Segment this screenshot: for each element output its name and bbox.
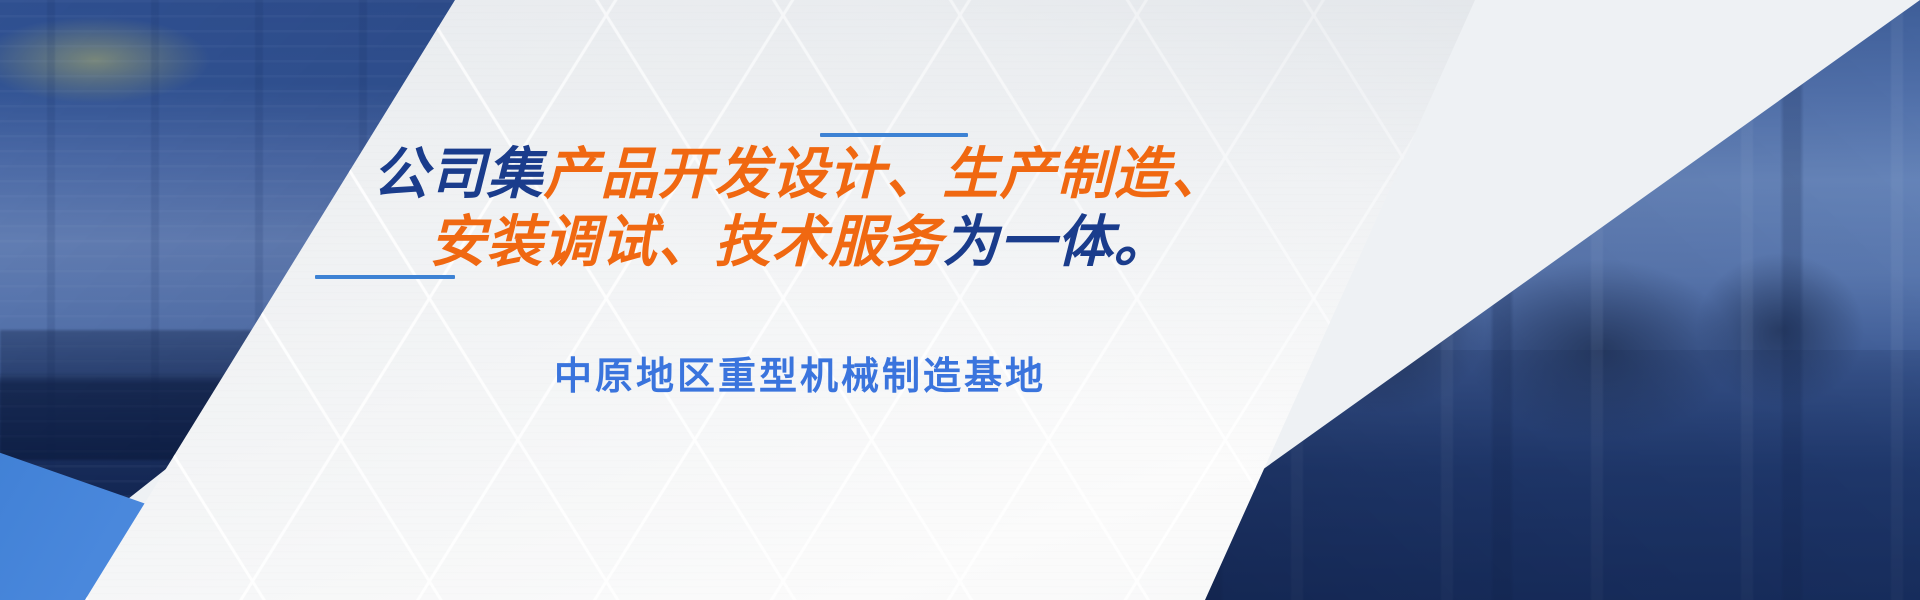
banner-headline: 公司集产品开发设计、生产制造、 安装调试、技术服务为一体。 bbox=[0, 140, 1760, 277]
decorative-rule-bottom bbox=[315, 275, 455, 279]
headline-line-2: 安装调试、技术服务为一体。 bbox=[0, 208, 1760, 276]
headline-line2-segment-orange: 安装调试、技术服务 bbox=[430, 210, 943, 273]
banner-subtitle: 中原地区重型机械制造基地 bbox=[0, 345, 1760, 400]
headline-line1-segment-orange: 产品开发设计、生产制造、 bbox=[544, 142, 1228, 205]
decorative-rule-top bbox=[820, 133, 968, 137]
hero-banner: 公司集产品开发设计、生产制造、 安装调试、技术服务为一体。 中原地区重型机械制造… bbox=[0, 0, 1920, 600]
headline-line-1: 公司集产品开发设计、生产制造、 bbox=[0, 140, 1760, 208]
headline-line1-segment-blue: 公司集 bbox=[373, 142, 544, 205]
banner-content: 公司集产品开发设计、生产制造、 安装调试、技术服务为一体。 中原地区重型机械制造… bbox=[0, 0, 1920, 600]
headline-line2-segment-blue: 为一体。 bbox=[943, 210, 1171, 273]
